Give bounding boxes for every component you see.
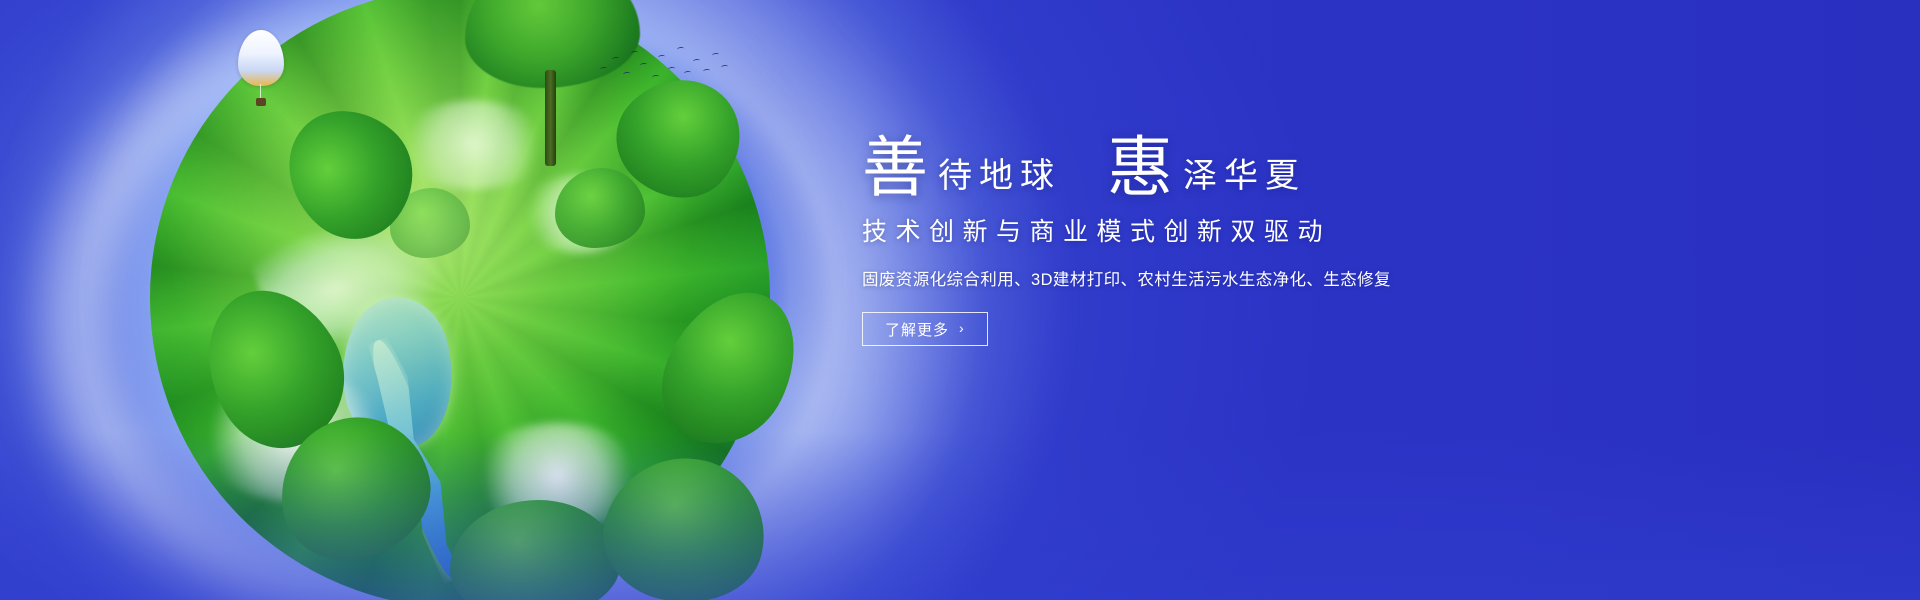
hero-copy: 善 待地球 惠 泽华夏 技术创新与商业模式创新双驱动 固废资源化综合利用、3D建… [862, 120, 1482, 346]
cloud-puff-icon [522, 174, 642, 254]
headline-small-chars-one: 待地球 [928, 160, 1061, 194]
hero-subheadline: 技术创新与商业模式创新双驱动 [862, 212, 1482, 248]
chevron-right-icon: › [959, 321, 965, 335]
learn-more-label: 了解更多 [885, 319, 949, 340]
bush-shape [555, 168, 645, 248]
hot-air-balloon-icon [238, 30, 284, 116]
headline-big-char-two: 惠 [1107, 136, 1173, 202]
balloon-envelope [238, 30, 284, 86]
balloon-basket [256, 98, 266, 106]
learn-more-button[interactable]: 了解更多 › [862, 312, 988, 346]
headline-big-char-one: 善 [862, 136, 928, 202]
hero-banner: 善 待地球 惠 泽华夏 技术创新与商业模式创新双驱动 固废资源化综合利用、3D建… [0, 0, 1920, 600]
headline-phrase-two: 惠 泽华夏 [1107, 132, 1306, 198]
hero-headline: 善 待地球 惠 泽华夏 [862, 120, 1482, 198]
hero-description: 固废资源化综合利用、3D建材打印、农村生活污水生态净化、生态修复 [862, 266, 1482, 290]
bird-flock-icon [600, 45, 730, 95]
headline-small-chars-two: 泽华夏 [1173, 160, 1306, 194]
headline-phrase-one: 善 待地球 [862, 132, 1061, 198]
tree-trunk [545, 70, 556, 166]
